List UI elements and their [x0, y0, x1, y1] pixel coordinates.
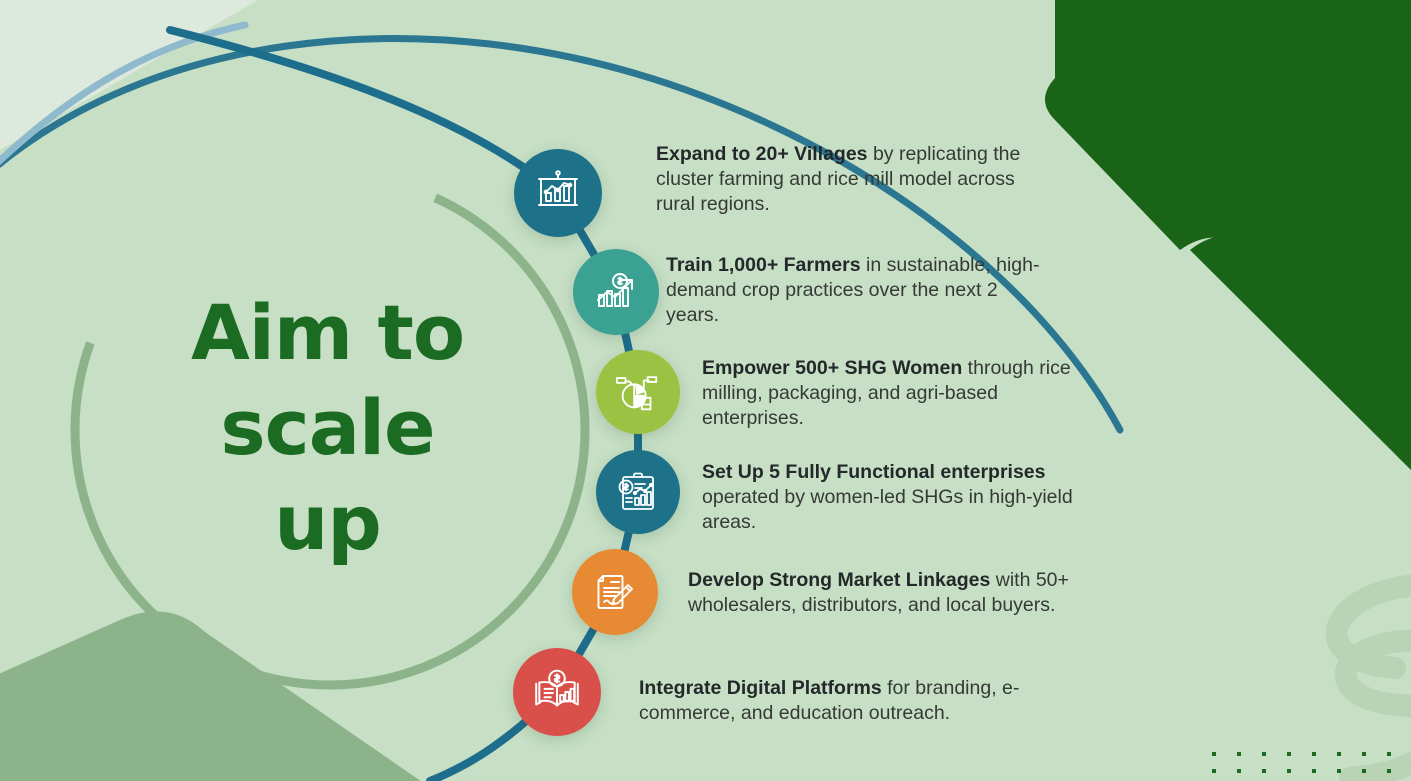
step-icon-circle-4[interactable]: [596, 450, 680, 534]
step-text-5: Develop Strong Market Linkages with 50+ …: [688, 568, 1078, 618]
step-icon-circle-2[interactable]: [573, 249, 659, 335]
open-book-money-chart-icon: [531, 666, 583, 718]
step-text-4: Set Up 5 Fully Functional enterprises op…: [702, 460, 1082, 535]
step-text-1: Expand to 20+ Villages by replicating th…: [656, 142, 1036, 217]
step-icon-circle-3[interactable]: [596, 350, 680, 434]
presentation-chart-icon: [533, 168, 583, 218]
step-heading-4: Set Up 5 Fully Functional enterprises: [702, 461, 1046, 483]
step-heading-3: Empower 500+ SHG Women: [702, 357, 962, 379]
step-text-6: Integrate Digital Platforms for branding…: [639, 676, 1029, 726]
pie-chart-labels-icon: [614, 368, 662, 416]
document-pencil-icon: [590, 567, 640, 617]
step-body-4: operated by women-led SHGs in high-yield…: [702, 486, 1073, 533]
step-text-3: Empower 500+ SHG Women through rice mill…: [702, 356, 1074, 431]
step-icon-circle-6[interactable]: [513, 648, 601, 736]
step-heading-1: Expand to 20+ Villages: [656, 143, 868, 165]
step-heading-2: Train 1,000+ Farmers: [666, 254, 861, 276]
slide-root: Aim to scale up: [0, 0, 1411, 781]
step-text-2: Train 1,000+ Farmers in sustainable, hig…: [666, 253, 1044, 328]
clipboard-report-chart-icon: [613, 467, 663, 517]
growth-arrow-chart-icon: [591, 267, 641, 317]
step-heading-6: Integrate Digital Platforms: [639, 677, 882, 699]
step-icon-circle-1[interactable]: [514, 149, 602, 237]
step-heading-5: Develop Strong Market Linkages: [688, 569, 990, 591]
step-icon-circle-5[interactable]: [572, 549, 658, 635]
timeline-steps-list: Expand to 20+ Villages by replicating th…: [0, 0, 1411, 781]
